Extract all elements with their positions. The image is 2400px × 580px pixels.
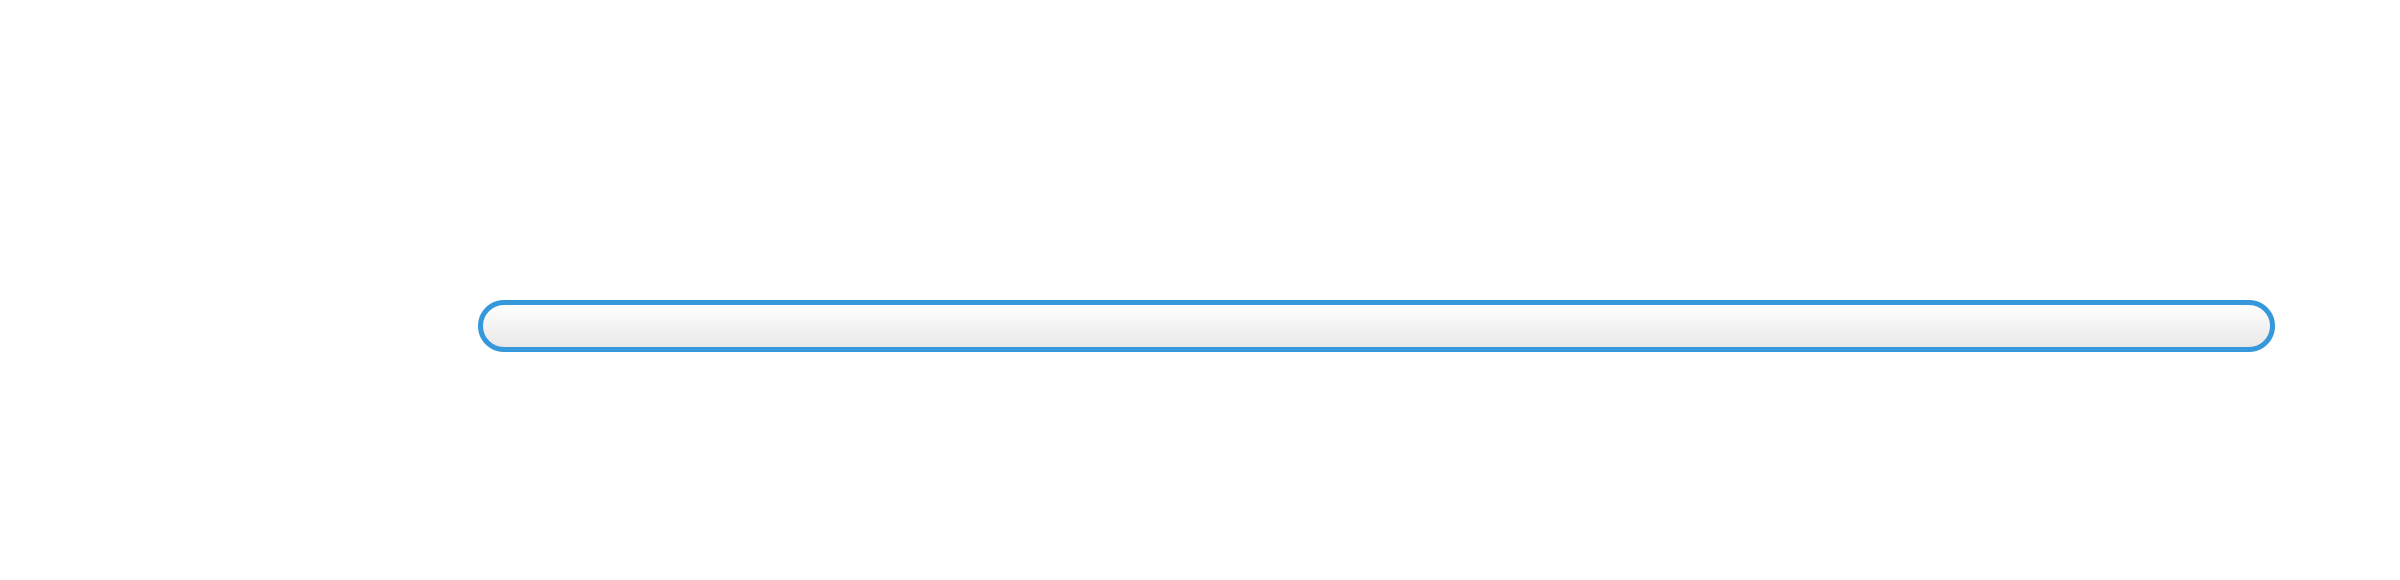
phylostratum-bar[interactable]: [478, 300, 2275, 352]
phylostratum-bar-track: [478, 300, 2275, 352]
species-columns: [478, 0, 2278, 580]
phylostratum-timeline: [0, 0, 2400, 580]
